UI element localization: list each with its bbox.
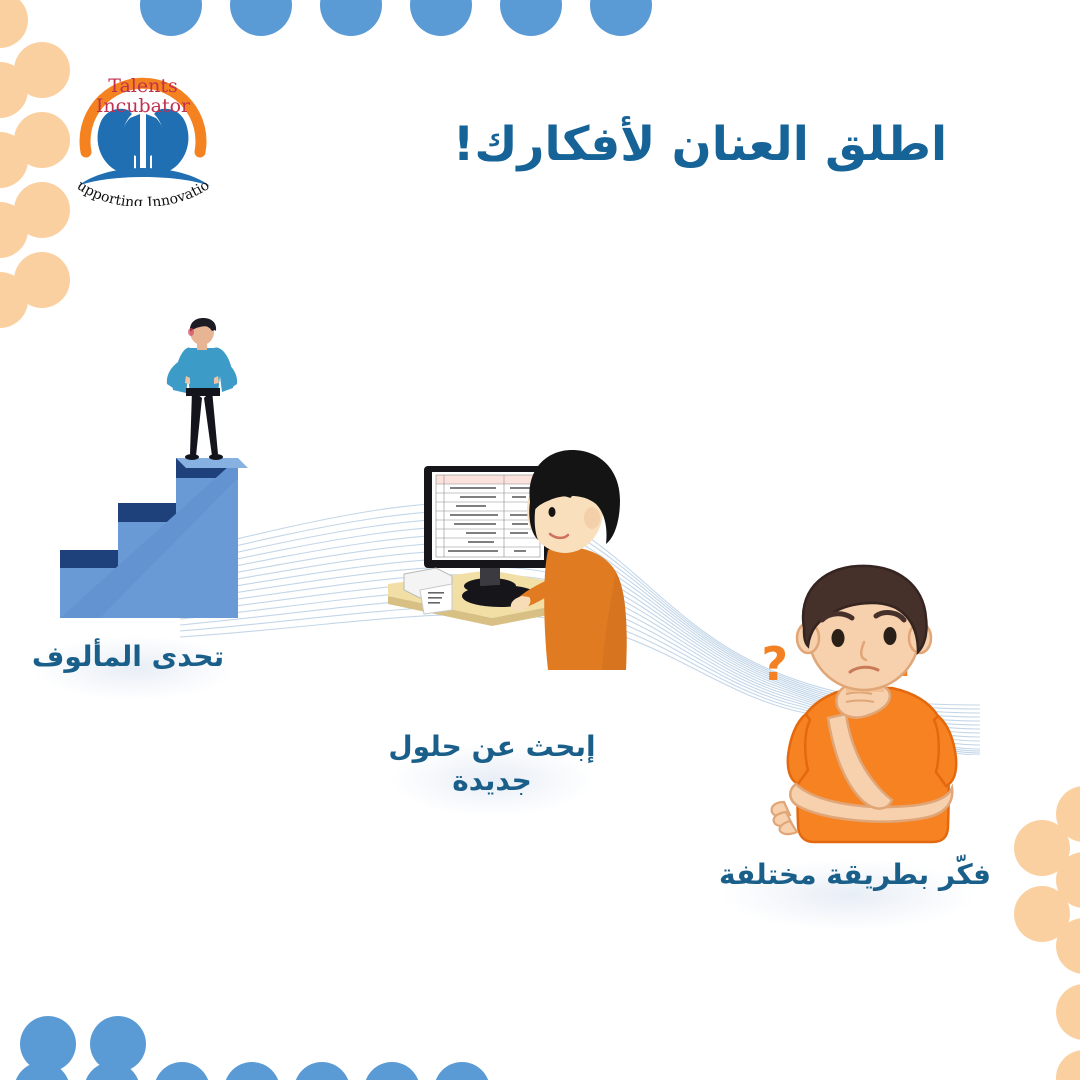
illustration-thinking-person: ? ? <box>742 558 987 873</box>
decor-dot <box>14 42 70 98</box>
decor-dot <box>1056 1050 1080 1080</box>
decor-dot <box>500 0 562 36</box>
decor-dot <box>0 0 28 48</box>
caption-challenge-the-familiar: تحدى المألوف <box>8 640 248 674</box>
decor-dot <box>230 0 292 36</box>
illustration-stairs <box>40 318 290 618</box>
decor-dot <box>154 1062 210 1080</box>
decor-dot <box>320 0 382 36</box>
decor-dot <box>14 252 70 308</box>
illustration-computer-user <box>380 438 645 670</box>
decor-dot <box>14 112 70 168</box>
question-mark-icon: ? <box>761 637 788 691</box>
poster-canvas: Talents Incubator Supporting Innovation … <box>0 0 1080 1080</box>
decor-dot <box>410 0 472 36</box>
caption-think-differently: فكّر بطريقة مختلفة <box>700 858 1010 892</box>
logo-wordmark-line2: Incubator <box>96 95 191 117</box>
decor-dot <box>364 1062 420 1080</box>
brand-logo: Talents Incubator Supporting Innovation <box>68 34 218 206</box>
page-title: اطلق العنان لأفكارك! <box>420 116 980 175</box>
decor-dot <box>434 1062 490 1080</box>
decor-dot <box>224 1062 280 1080</box>
decor-dot <box>1056 984 1080 1040</box>
caption-search-new-solutions: إبحث عن حلول جديدة <box>372 730 612 798</box>
decor-dot <box>14 182 70 238</box>
decor-dot <box>590 0 652 36</box>
decor-dot <box>294 1062 350 1080</box>
decor-dot <box>140 0 202 36</box>
logo-wordmark-line1: Talents <box>108 75 177 97</box>
